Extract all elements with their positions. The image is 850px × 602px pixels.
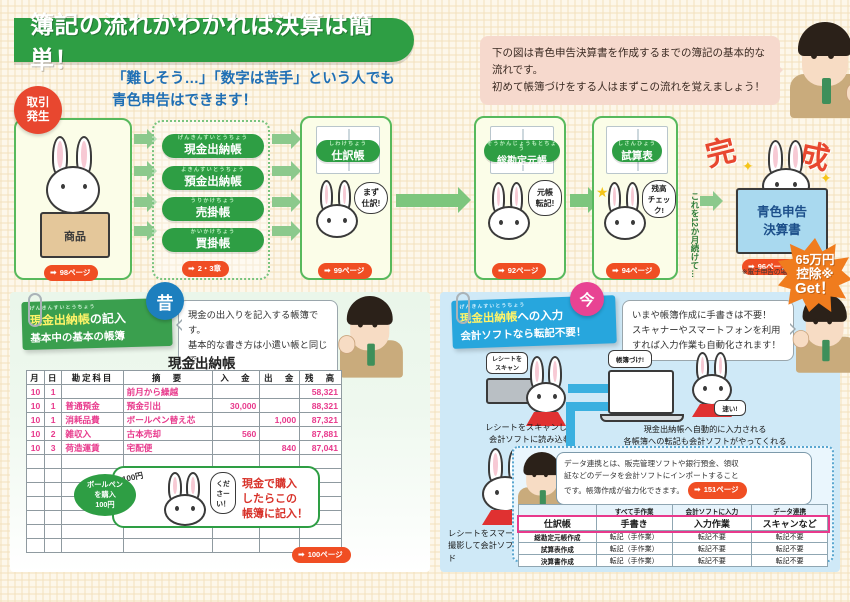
- era-badge-present: 今: [570, 282, 604, 316]
- page-badge-linkage[interactable]: ➡ 151ページ: [688, 482, 747, 499]
- cell-empty: [44, 525, 61, 539]
- journal-ruby: しわけちょう: [316, 142, 380, 147]
- cell-out: 840: [260, 441, 300, 455]
- journal-bubble: まず 仕訳!: [354, 182, 388, 214]
- rabbit-eye-right: [191, 506, 195, 511]
- cmp-row-label: 試算表作成: [519, 543, 597, 555]
- rabbit-eye-left: [327, 218, 331, 223]
- comparison-header-row: すべて手作業 会計ソフトに入力 データ連携: [519, 505, 828, 517]
- rabbit-eye-left: [537, 394, 541, 399]
- cmp-cell-manual: 転記（手作業）: [596, 543, 672, 555]
- cell-month: 10: [27, 385, 45, 399]
- table-row: 101前月から繰越58,321: [27, 385, 342, 399]
- man-eye-left: [811, 52, 817, 59]
- table-header-row: 月 日 勘定科目 摘 要 入 金 出 金 残 高: [27, 371, 342, 385]
- man-necktie: [822, 340, 829, 361]
- cell-out: 1,000: [260, 413, 300, 427]
- modern-note-line-2: スキャナーやスマートフォンを利用: [632, 323, 784, 338]
- general-ledger-card: そうかんじょうもとちょう 総勘定元帳 元帳 転記! ➡ 92ページ: [474, 116, 566, 280]
- rabbit-eye-right: [343, 218, 347, 223]
- cell-empty: [27, 483, 45, 497]
- modern-note-line-1: いまや帳簿作成に手書きは不要！: [632, 308, 784, 323]
- man-eye-right: [828, 52, 834, 59]
- flow-arrow-6: [272, 166, 292, 176]
- page-badge-journal-label: 99ページ: [334, 265, 365, 276]
- linkage-note-line-3: です。帳簿作成が省力化できます。: [564, 485, 684, 497]
- laptop-icon: [600, 370, 686, 426]
- table-row: 101普通預金預金引出30,00088,321: [27, 399, 342, 413]
- goods-box: 商品: [40, 212, 110, 258]
- cmp-row-label: 仕訳帳: [519, 517, 597, 531]
- pen-badge-line-3: 100円: [95, 500, 114, 510]
- page-badge-left-panel[interactable]: ➡ 100ページ: [292, 547, 351, 563]
- book-item-2[interactable]: うりかけちょう 売掛帳: [162, 197, 264, 221]
- cell-memo: 前月から繰越: [123, 385, 212, 399]
- cash-callout-line-2: したらこの: [242, 492, 308, 507]
- cell-day: 2: [44, 427, 61, 441]
- rabbit-eye-left: [61, 184, 65, 189]
- cell-in: [212, 413, 260, 427]
- man-necktie: [367, 344, 375, 366]
- rabbit-eye-left: [615, 220, 619, 225]
- page-badge-trial-balance[interactable]: ➡ 94ページ: [606, 263, 660, 279]
- linkage-note-line-2: 証などのデータを会計ソフトにインポートすること: [564, 470, 804, 482]
- general-ledger-ruby: そうかんじょうもとちょう: [484, 142, 560, 152]
- cell-account: [62, 385, 123, 399]
- rabbit-head: [164, 494, 206, 526]
- trial-balance-ruby: しさんひょう: [612, 142, 662, 147]
- rabbit-eye-left: [175, 506, 179, 511]
- comparison-row: 総勘定元帳作成転記（手作業）転記不要転記不要: [519, 531, 828, 543]
- rabbit-eye-right: [719, 386, 723, 391]
- rabbit-eye-left: [775, 182, 779, 187]
- auto-caption-line-1: 現金出納帳へ自動的に入力される: [580, 424, 830, 436]
- cell-empty: [44, 511, 61, 525]
- past-tag-title: げんきんすいとうちょう 現金出納帳の記入: [29, 303, 164, 329]
- arrow-icon: ➡: [498, 266, 505, 275]
- rabbit-head: [488, 206, 530, 240]
- cell-account: 消耗品費: [62, 413, 123, 427]
- flow-arrow-8: [272, 226, 292, 236]
- twelve-months-note: これを12か月続けて…: [678, 192, 700, 280]
- man-hair: [798, 22, 850, 56]
- cell-empty: [27, 539, 45, 553]
- advisor-man-note: [518, 452, 552, 494]
- cell-empty: [44, 455, 61, 469]
- cell-day: 1: [44, 385, 61, 399]
- cell-out: [260, 427, 300, 441]
- rabbit-eye-left: [495, 490, 499, 495]
- journal-label: 仕訳帳: [332, 150, 365, 162]
- cmp-row-label: 決算書作成: [519, 555, 597, 567]
- book-item-1-ruby: よきんすいとうちょう: [162, 168, 264, 173]
- advisor-man-left: [340, 296, 393, 364]
- comparison-row: 決算書作成転記（手作業）転記不要転記不要: [519, 555, 828, 567]
- cell-empty: [123, 539, 212, 553]
- rabbit-shopping: [156, 472, 212, 528]
- man-hair: [347, 296, 393, 325]
- man-eye-right: [372, 322, 377, 328]
- trial-balance-bubble: 残高 チェック!: [642, 180, 676, 218]
- burst-line-1: 65万円: [796, 253, 835, 267]
- cell-memo: 宅配便: [123, 441, 212, 455]
- past-tag-title-rest: の記入: [90, 311, 126, 326]
- sparkle-icon-left: ✦: [742, 158, 754, 175]
- rabbit-eye-right: [553, 394, 557, 399]
- intro-speech-line-1: 下の図は青色申告決算書を作成するまでの簿記の基本的な流れです。: [492, 45, 768, 79]
- arrow-icon: ➡: [324, 266, 331, 275]
- book-item-0-label: 現金出納帳: [184, 144, 242, 156]
- pen-badge-line-2: を購入: [94, 490, 116, 500]
- table-row: 101消耗品費ボールペン替え芯1,00087,321: [27, 413, 342, 427]
- subtitle-line-1: 「難しそう…」「数字は苦手」という人でも: [112, 68, 442, 90]
- transaction-badge-line-2: 発生: [27, 110, 50, 124]
- arrow-icon: ➡: [694, 484, 701, 497]
- cell-month: 10: [27, 441, 45, 455]
- cmp-cell-software: 転記不要: [672, 531, 752, 543]
- cmp-col-0: [519, 505, 597, 517]
- cmp-col-3: データ連携: [752, 505, 828, 517]
- transaction-badge: 取引 発生: [14, 86, 62, 134]
- rabbit-eye-right: [515, 220, 519, 225]
- man-eye-left: [813, 319, 818, 325]
- laptop-bubble: 帳簿づけ!: [608, 350, 652, 368]
- cell-account: 荷造運賃: [62, 441, 123, 455]
- cmp-row-label: 総勘定元帳作成: [519, 531, 597, 543]
- burst-line-3: Get！: [795, 281, 835, 298]
- cell-empty: [212, 539, 260, 553]
- poster-page: 簿記の流れがわかれば決算は簡単！ 「難しそう…」「数字は苦手」という人でも 青色…: [0, 0, 850, 602]
- modern-note-line-3: すれば入力作業も自動化されます！: [632, 338, 784, 353]
- paperclip-icon-left: [28, 293, 42, 327]
- man-eye-left: [532, 472, 536, 477]
- cmp-cell-software: 転記不要: [672, 543, 752, 555]
- general-ledger-bubble: 元帳 転記!: [528, 180, 562, 216]
- journal-card: しわけちょう 仕訳帳 まず 仕訳! ➡ 99ページ: [300, 116, 392, 280]
- signboard-line-1: 青色申告: [757, 203, 807, 221]
- cmp-cell-software: 転記不要: [672, 555, 752, 567]
- cell-out: [260, 385, 300, 399]
- cell-out: [260, 399, 300, 413]
- man-eye-right: [827, 319, 832, 325]
- cell-balance: 87,321: [300, 413, 342, 427]
- data-linkage-note: データ連携とは、販売管理ソフトや銀行預金、領収 証などのデータを会計ソフトにイン…: [556, 452, 812, 505]
- cell-in: [212, 385, 260, 399]
- col-out: 出 金: [260, 371, 300, 385]
- table-row: 103荷造運賃宅配便84087,041: [27, 441, 342, 455]
- cell-in: 560: [212, 427, 260, 441]
- rabbit-eye-right: [631, 220, 635, 225]
- laptop-keyboard-base: [600, 414, 684, 422]
- cell-balance: 88,321: [300, 399, 342, 413]
- trial-balance-label: 試算表: [621, 150, 653, 162]
- col-memo: 摘 要: [123, 371, 212, 385]
- page-badge-linkage-label: 151ページ: [704, 484, 739, 496]
- cell-balance: 87,881: [300, 427, 342, 441]
- comparison-row: 仕訳帳手書き入力作業スキャンなど: [519, 517, 828, 531]
- rabbit-eye-left: [499, 220, 503, 225]
- cell-day: 3: [44, 441, 61, 455]
- signboard-line-2: 決算書: [763, 221, 801, 239]
- auto-entry-caption: 現金出納帳へ自動的に入力される 各帳簿への転記も会計ソフトがやってくれる: [580, 424, 830, 449]
- cash-callout-message: 現金で購入 したらこの 帳簿に記入！: [242, 477, 308, 522]
- comparison-row: 試算表作成転記（手作業）転記不要転記不要: [519, 543, 828, 555]
- past-tag-subtitle: 基本中の基本の帳簿: [30, 327, 164, 346]
- intro-speech-bubble: 下の図は青色申告決算書を作成するまでの簿記の基本的な流れです。 初めて帳簿づけを…: [480, 36, 780, 105]
- col-balance: 残 高: [300, 371, 342, 385]
- cmp-cell-linkage: 転記不要: [752, 543, 828, 555]
- cell-empty: [62, 455, 123, 469]
- sparkle-icon: ★: [596, 184, 609, 201]
- cell-balance: 87,041: [300, 441, 342, 455]
- book-item-3-label: 買掛帳: [196, 238, 231, 250]
- linkage-note-line-1: データ連携とは、販売管理ソフトや銀行預金、領収: [564, 458, 804, 470]
- page-title-banner: 簿記の流れがわかれば決算は簡単！: [14, 18, 414, 62]
- book-item-2-ruby: うりかけちょう: [162, 199, 264, 204]
- man-pointing-hand: [338, 335, 355, 354]
- cell-empty: [44, 483, 61, 497]
- man-eye-right: [544, 472, 548, 477]
- transaction-badge-line-1: 取引: [27, 96, 50, 110]
- journal-label-pill[interactable]: しわけちょう 仕訳帳: [316, 140, 380, 162]
- cell-empty: [27, 469, 45, 483]
- advisor-man-illustration: [790, 22, 850, 118]
- book-item-3-ruby: かいかけちょう: [162, 230, 264, 235]
- book-item-1[interactable]: よきんすいとうちょう 預金出納帳: [162, 166, 264, 190]
- cell-balance: 58,321: [300, 385, 342, 399]
- page-badge-left-panel-label: 100ページ: [308, 549, 343, 560]
- rabbit-head: [604, 206, 646, 240]
- page-badge-general-ledger-label: 92ページ: [508, 265, 539, 276]
- rabbit-eye-left: [703, 386, 707, 391]
- arrow-icon: ➡: [612, 266, 619, 275]
- book-item-3[interactable]: かいかけちょう 買掛帳: [162, 228, 264, 252]
- cell-month: 10: [27, 427, 45, 441]
- cmp-cell-manual: 手書き: [596, 517, 672, 531]
- cell-empty: [27, 511, 45, 525]
- flow-arrow-final: [700, 196, 714, 206]
- subsidiary-books-group: げんきんすいとうちょう 現金出納帳 よきんすいとうちょう 預金出納帳 うりかけち…: [152, 120, 270, 280]
- col-account: 勘定科目: [62, 371, 123, 385]
- cell-month: 10: [27, 413, 45, 427]
- cell-account: 普通預金: [62, 399, 123, 413]
- arrow-icon: ➡: [298, 550, 305, 559]
- cash-book-title: 現金出納帳: [168, 352, 236, 372]
- modern-tag-subtitle: 会計ソフトなら転記不要！: [460, 323, 608, 343]
- book-item-0-ruby: げんきんすいとうちょう: [162, 136, 264, 141]
- cmp-col-2: 会計ソフトに入力: [672, 505, 752, 517]
- cell-empty: [62, 525, 123, 539]
- page-badge-trial-balance-label: 94ページ: [622, 265, 653, 276]
- rabbit-eye-right: [83, 184, 87, 189]
- pen-purchase-badge: ボールペン を購入 100円: [74, 474, 136, 516]
- flow-arrow-4: [134, 226, 148, 236]
- cmp-cell-linkage: スキャンなど: [752, 517, 828, 531]
- table-row: 102雑収入古本売却56087,881: [27, 427, 342, 441]
- cell-empty: [44, 469, 61, 483]
- trial-balance-label-pill[interactable]: しさんひょう 試算表: [612, 140, 662, 162]
- laptop-screen: [608, 370, 674, 414]
- cell-in: 30,000: [212, 399, 260, 413]
- fast-bubble: 速い!: [714, 400, 746, 416]
- cell-empty: [27, 455, 45, 469]
- general-ledger-label-pill[interactable]: そうかんじょうもとちょう 総勘定元帳: [484, 140, 560, 162]
- cash-callout-line-3: 帳簿に記入！: [242, 507, 308, 522]
- cell-day: 1: [44, 399, 61, 413]
- rabbit-head: [316, 204, 358, 238]
- flow-arrow-1: [134, 134, 148, 144]
- col-month: 月: [27, 371, 45, 385]
- burst-line-2: 控除※: [796, 267, 833, 281]
- man-eye-left: [358, 322, 363, 328]
- modern-tag-title-rest: への入力: [517, 310, 563, 324]
- intro-speech-line-2: 初めて帳簿づけをする人はまずこの流れを覚えましょう！: [492, 79, 768, 96]
- rabbit-ledger: [482, 182, 534, 240]
- cell-empty: [27, 525, 45, 539]
- arrow-icon: ➡: [188, 264, 195, 273]
- page-badge-general-ledger[interactable]: ➡ 92ページ: [492, 263, 546, 279]
- cell-memo: 古本売却: [123, 427, 212, 441]
- cell-empty: [27, 497, 45, 511]
- man-necktie: [822, 78, 831, 104]
- era-badge-past: 昔: [146, 282, 184, 320]
- cell-day: 1: [44, 413, 61, 427]
- comparison-table: すべて手作業 会計ソフトに入力 データ連携 仕訳帳手書き入力作業スキャンなど総勘…: [518, 504, 828, 567]
- general-ledger-label: 総勘定元帳: [497, 156, 547, 167]
- rabbit-speech-bubble: くだ さーい！: [210, 472, 236, 514]
- cell-account: 雑収入: [62, 427, 123, 441]
- page-badge-books[interactable]: ➡ 2・3章: [182, 261, 229, 277]
- arrow-icon: ➡: [50, 268, 57, 277]
- cmp-col-1: すべて手作業: [596, 505, 672, 517]
- cell-month: 10: [27, 399, 45, 413]
- flow-arrow-7: [272, 197, 292, 207]
- pen-badge-line-1: ボールペン: [87, 480, 123, 490]
- flow-arrow-3: [134, 197, 148, 207]
- cell-empty: [62, 539, 123, 553]
- cmp-cell-manual: 転記（手作業）: [596, 555, 672, 567]
- book-item-0[interactable]: げんきんすいとうちょう 現金出納帳: [162, 134, 264, 158]
- cmp-cell-manual: 転記（手作業）: [596, 531, 672, 543]
- cmp-cell-linkage: 転記不要: [752, 531, 828, 543]
- page-badge-start[interactable]: ➡ 98ページ: [44, 265, 98, 281]
- flow-arrow-2: [134, 166, 148, 176]
- paperclip-icon-right: [456, 292, 470, 324]
- trial-balance-card: しさんひょう 試算表 ★ 残高 チェック! ➡ 94ページ: [592, 116, 678, 280]
- cmp-cell-software: 入力作業: [672, 517, 752, 531]
- page-badge-start-label: 98ページ: [60, 267, 91, 278]
- goods-box-label: 商品: [42, 228, 108, 244]
- rabbit-journal: [310, 180, 362, 240]
- cell-empty: [44, 539, 61, 553]
- rabbit-eye-right: [793, 182, 797, 187]
- cell-in: [212, 441, 260, 455]
- page-badge-journal[interactable]: ➡ 99ページ: [318, 263, 372, 279]
- flow-arrow-9: [396, 194, 458, 207]
- cash-purchase-callout: 100円 くだ さーい！ 現金で購入 したらこの 帳簿に記入！: [112, 466, 320, 528]
- cell-memo: ボールペン替え芯: [123, 413, 212, 427]
- col-in: 入 金: [212, 371, 260, 385]
- past-note-line-1: 現金の出入りを記入する帳簿です。: [188, 308, 328, 338]
- cash-callout-line-1: 現金で購入: [242, 477, 308, 492]
- cmp-cell-linkage: 転記不要: [752, 555, 828, 567]
- flow-arrow-10: [570, 194, 588, 207]
- book-item-2-label: 売掛帳: [196, 207, 231, 219]
- transaction-card: 商品 ➡ 98ページ: [14, 118, 132, 280]
- page-badge-books-label: 2・3章: [198, 263, 221, 274]
- cell-memo: 預金引出: [123, 399, 212, 413]
- cell-empty: [44, 497, 61, 511]
- book-item-1-label: 預金出納帳: [184, 176, 242, 188]
- past-tag-ruby: げんきんすいとうちょう: [29, 303, 163, 312]
- rabbit-head: [46, 166, 100, 214]
- rabbit-head: [526, 382, 566, 414]
- page-title: 簿記の流れがわかれば決算は簡単！: [30, 5, 414, 75]
- col-day: 日: [44, 371, 61, 385]
- sparkle-icon-right: ✦: [820, 170, 832, 187]
- flow-arrow-5: [272, 134, 292, 144]
